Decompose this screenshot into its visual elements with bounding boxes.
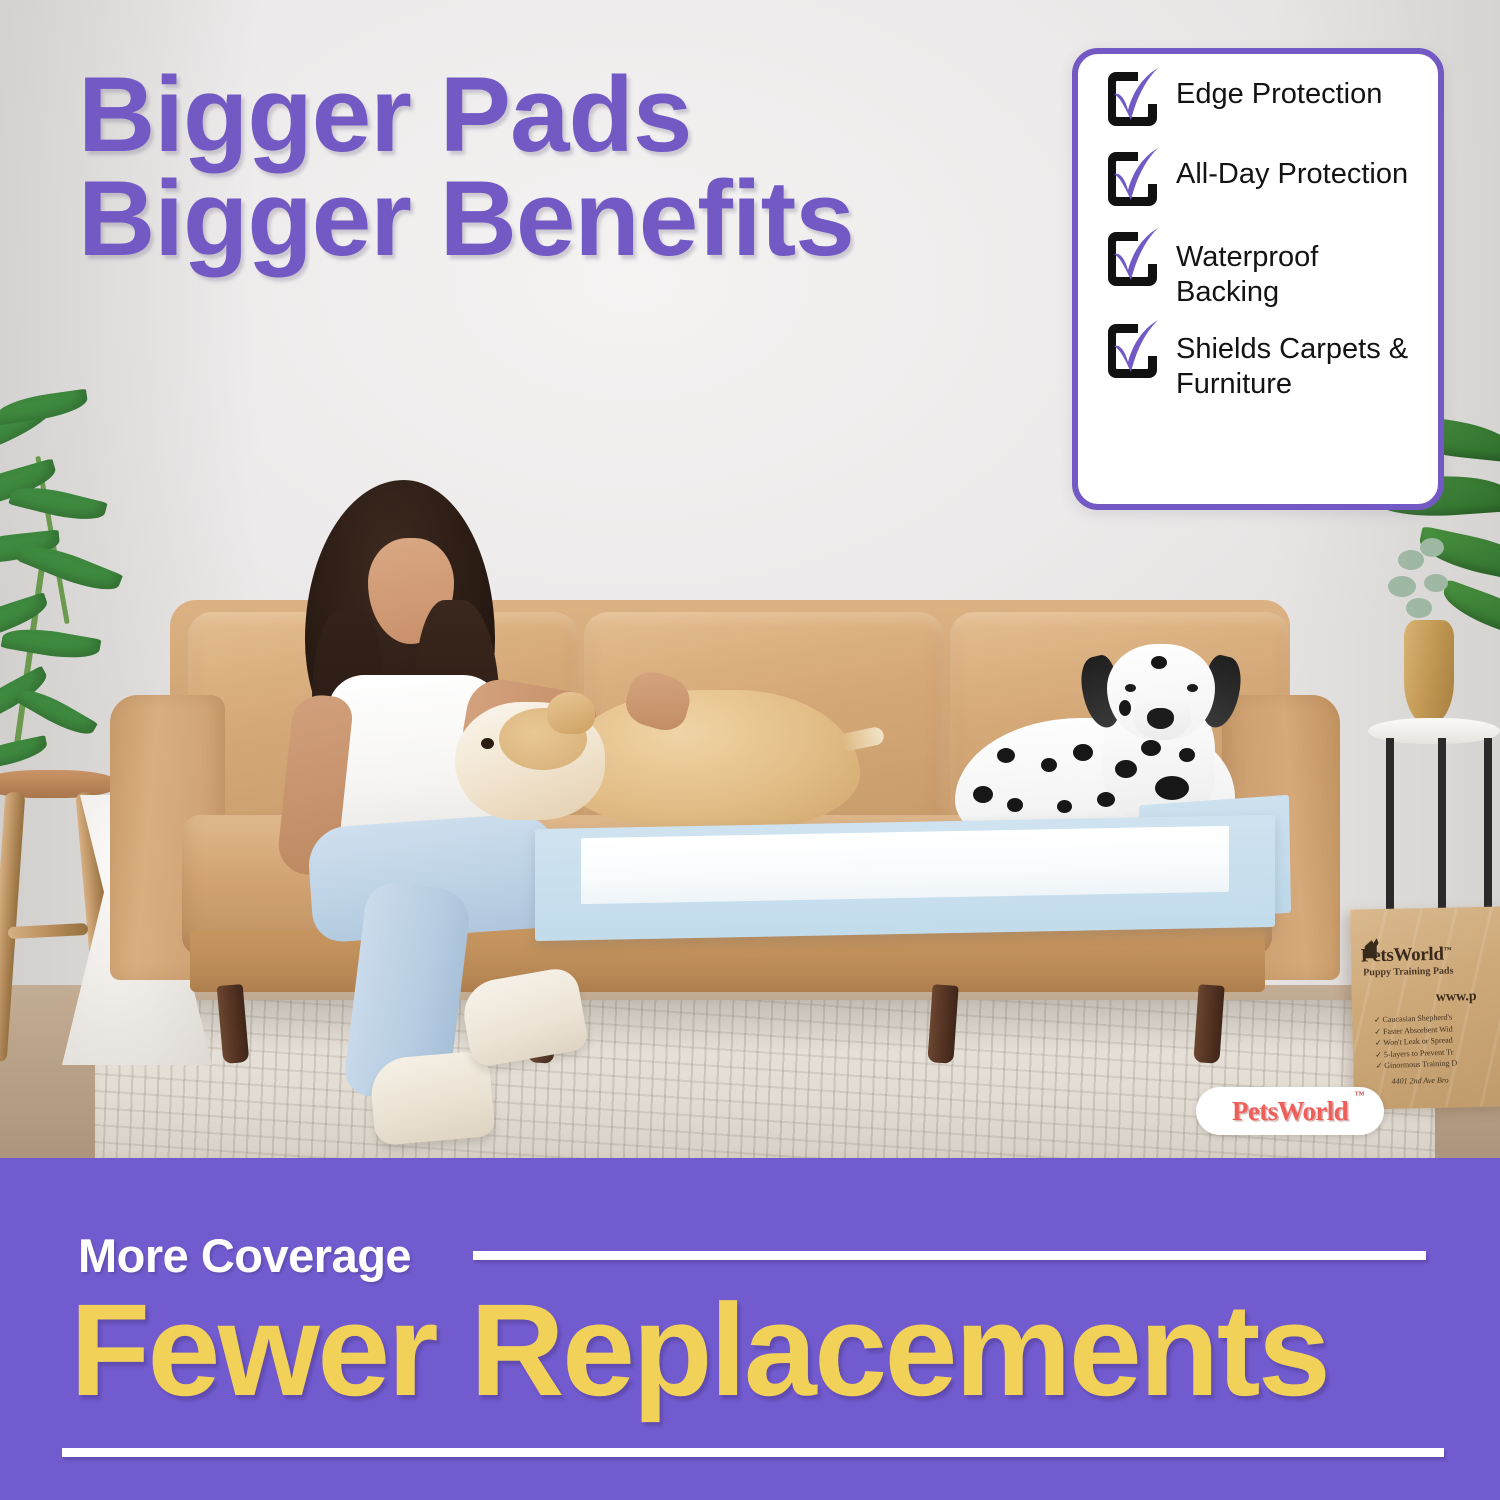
checkbox-checked-icon [1100, 76, 1162, 138]
checklist-item: Edge Protection [1100, 76, 1420, 138]
banner-top-row: More Coverage [78, 1228, 1426, 1283]
checkbox-checked-icon [1100, 236, 1162, 298]
headline-line-1: Bigger Pads [78, 62, 978, 166]
banner-heading: Fewer Replacements [70, 1286, 1470, 1414]
checklist-item-label: All-Day Protection [1176, 156, 1408, 192]
carton-brand: PetsWorld™ [1361, 943, 1500, 968]
checklist-item: Shields Carpets & Furniture [1100, 328, 1420, 402]
checklist-item-label: Waterproof Backing [1176, 236, 1420, 310]
checklist-item: All-Day Protection [1100, 156, 1420, 218]
product-carton: PetsWorld™ Puppy Training Pads www.p ✓ C… [1350, 906, 1500, 1109]
banner-divider-bottom [62, 1448, 1444, 1457]
product-marketing-poster: PetsWorld™ Puppy Training Pads www.p ✓ C… [0, 0, 1500, 1500]
carton-website: www.p [1436, 989, 1477, 1006]
trademark-symbol: ™ [1355, 1090, 1364, 1101]
checklist-item-label: Edge Protection [1176, 76, 1382, 112]
pee-pad-absorbent-center [581, 826, 1229, 904]
carton-address: 4401 2nd Ave Bro [1391, 1076, 1448, 1086]
headline: Bigger Pads Bigger Benefits [78, 62, 978, 270]
checkbox-checked-icon [1100, 328, 1162, 390]
wooden-vase [1404, 620, 1454, 725]
pee-pad-main [535, 815, 1275, 941]
checkbox-checked-icon [1100, 156, 1162, 218]
bottom-banner: More Coverage Fewer Replacements [0, 1158, 1500, 1500]
carton-bullets: ✓ Caucasian Shepherd's ✓ Faster Absorben… [1374, 1009, 1500, 1072]
checklist-item: Waterproof Backing [1100, 236, 1420, 310]
banner-subheading: More Coverage [78, 1228, 411, 1283]
benefits-checklist-card: Edge Protection All-Day Protection Water… [1072, 48, 1444, 510]
headline-line-2: Bigger Benefits [78, 166, 978, 270]
brand-logo: PetsWorld ™ [1196, 1087, 1384, 1135]
banner-divider-top [473, 1251, 1426, 1260]
brand-logo-text: PetsWorld ™ [1232, 1096, 1348, 1127]
checklist-item-label: Shields Carpets & Furniture [1176, 328, 1420, 402]
